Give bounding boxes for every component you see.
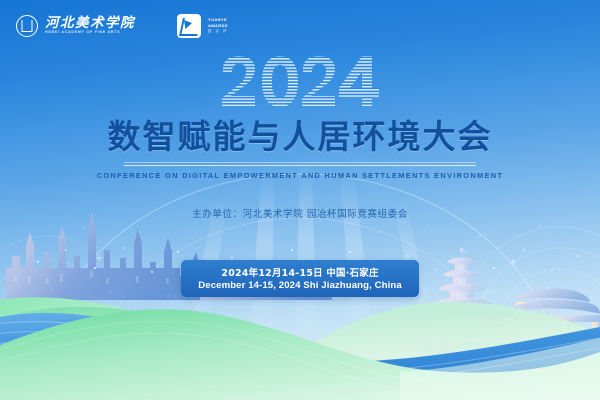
poster-canvas: 河北美术学院 HEBEI ACADEMY OF FINE ARTS YUANYE… — [0, 0, 600, 400]
divider-line-2 — [124, 165, 476, 166]
award-cup-icon — [177, 14, 201, 38]
divider-line-1 — [124, 162, 476, 163]
header-logos: 河北美术学院 HEBEI ACADEMY OF FINE ARTS YUANYE… — [0, 0, 600, 52]
logo-secondary-line3: 园 冶 杯 — [208, 30, 228, 33]
logo-hebei-academy[interactable]: 河北美术学院 HEBEI ACADEMY OF FINE ARTS — [16, 15, 135, 37]
organizer-line: 主办单位：河北美术学院 园冶杯国际竞赛组委会 — [192, 206, 408, 220]
logo-yuanye-awards[interactable]: YUANYE AWARDS 园 冶 杯 — [177, 14, 228, 38]
logo-primary-name-cn: 河北美术学院 — [45, 17, 135, 31]
date-location-en: December 14-15, 2024 Shi Jiazhuang, Chin… — [198, 280, 402, 291]
date-location-cn: 2024年12月14-15日 中国·石家庄 — [221, 265, 378, 279]
year-2024 — [220, 55, 380, 110]
logo-secondary-line2: AWARDS — [208, 24, 228, 28]
page-title: 数智赋能与人居环境大会 — [108, 120, 493, 153]
page-subtitle: CONFERENCE ON DIGITAL EMPOWERMENT AND HU… — [97, 171, 504, 180]
logo-secondary-line1: YUANYE — [208, 18, 228, 22]
logo-primary-name-en: HEBEI ACADEMY OF FINE ARTS — [45, 31, 135, 35]
university-seal-icon — [16, 15, 38, 37]
title-divider — [124, 162, 476, 166]
poster-content: 数智赋能与人居环境大会 CONFERENCE ON DIGITAL EMPOWE… — [0, 0, 600, 400]
date-location-badge: 2024年12月14-15日 中国·石家庄 December 14-15, 20… — [181, 260, 419, 297]
